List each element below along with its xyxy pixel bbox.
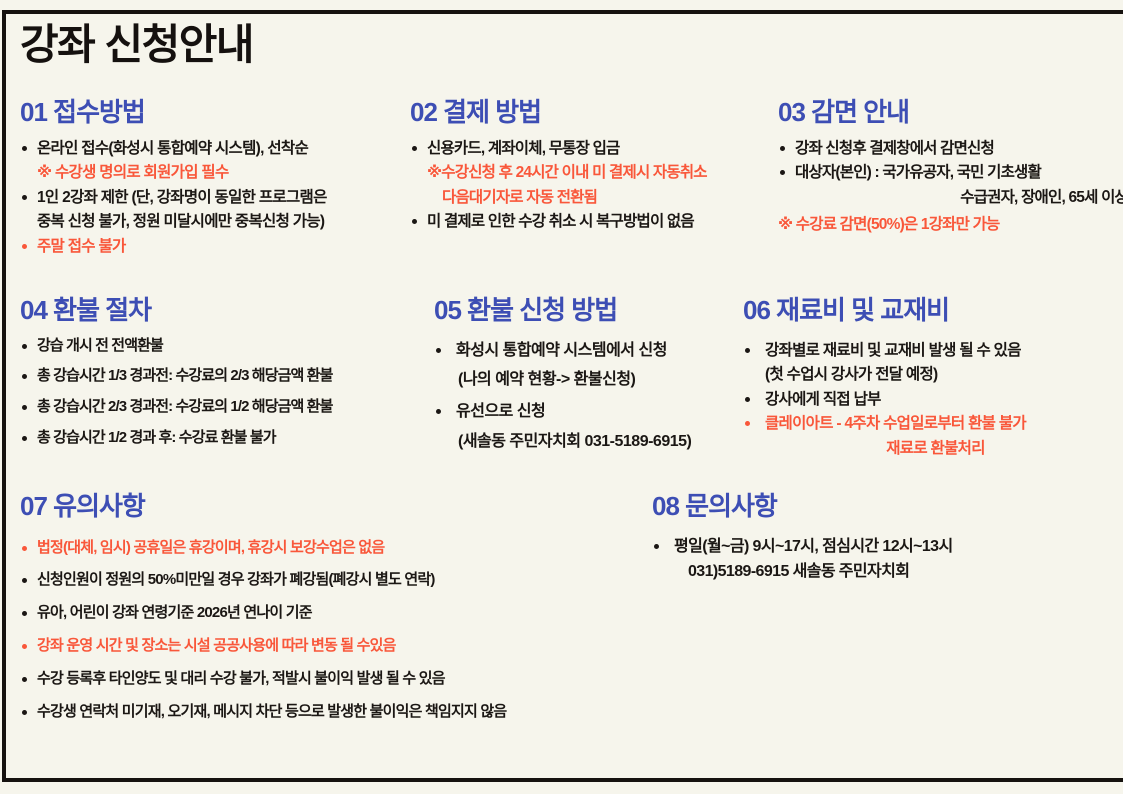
page-title: 강좌 신청안내 (20, 22, 253, 68)
section-04-list: 강습 개시 전 전액환불 총 강습시간 1/3 경과전: 수강료의 2/3 해당… (20, 335, 440, 450)
section-02-title: 결제 방법 (443, 97, 541, 127)
section-04-number: 04 (20, 295, 47, 325)
section-07-number: 07 (20, 491, 47, 521)
list-item: 재료로 환불처리 (743, 437, 1123, 461)
list-item: 031)5189-6915 새솔동 주민자치회 (652, 560, 1122, 584)
section-03-heading: 03 감면 안내 (778, 98, 1123, 127)
section-01-title: 접수방법 (53, 97, 145, 127)
list-item: 총 강습시간 2/3 경과전: 수강료의 1/2 해당금액 환불 (20, 396, 440, 419)
list-item: 화성시 통합예약 시스템에서 신청 (434, 339, 739, 363)
section-07-heading: 07 유의사항 (20, 492, 640, 521)
list-item: 강사에게 직접 납부 (743, 388, 1123, 412)
section-03-list: 강좌 신청후 결제창에서 감면신청 대상자(본인) : 국가유공자, 국민 기초… (778, 137, 1123, 237)
section-05-title: 환불 신청 방법 (467, 295, 617, 325)
section-06-heading: 06 재료비 및 교재비 (743, 296, 1123, 325)
list-item: 평일(월~금) 9시~17시, 점심시간 12시~13시 (652, 535, 1122, 559)
list-item: 강습 개시 전 전액환불 (20, 335, 440, 358)
list-item: 유선으로 신청 (434, 400, 739, 424)
list-item: 강좌별로 재료비 및 교재비 발생 될 수 있음 (743, 339, 1123, 363)
section-02-list: 신용카드, 계좌이체, 무통장 입금 ※수강신청 후 24시간 이내 미 결제시… (410, 137, 780, 234)
section-07-notices: 07 유의사항 법정(대체, 임시) 공휴일은 휴강이며, 휴강시 보강수업은 … (20, 492, 640, 733)
section-08-list: 평일(월~금) 9시~17시, 점심시간 12시~13시 031)5189-69… (652, 535, 1122, 585)
section-06-title: 재료비 및 교재비 (776, 295, 949, 325)
section-04-title: 환불 절차 (53, 295, 151, 325)
list-item: ※ 수강생 명의로 회원가입 필수 (20, 161, 410, 185)
section-05-number: 05 (434, 295, 461, 325)
list-item: ※수강신청 후 24시간 이내 미 결제시 자동취소 (410, 161, 780, 185)
section-05-heading: 05 환불 신청 방법 (434, 296, 739, 325)
section-04-refund-procedure: 04 환불 절차 강습 개시 전 전액환불 총 강습시간 1/3 경과전: 수강… (20, 296, 440, 453)
list-item: ※ 수강료 감면(50%)은 1강좌만 가능 (778, 213, 1123, 237)
list-item: 다음대기자로 자동 전환됨 (410, 186, 780, 210)
list-item: 신청인원이 정원의 50%미만일 경우 강좌가 폐강됨(폐강시 별도 연락) (20, 569, 640, 592)
list-item: (나의 예약 현황-> 환불신청) (434, 368, 739, 392)
list-item: 1인 2강좌 제한 (단, 강좌명이 동일한 프로그램은 (20, 186, 410, 210)
section-08-heading: 08 문의사항 (652, 492, 1122, 521)
list-item: 온라인 접수(화성시 통합예약 시스템), 선착순 (20, 137, 410, 161)
list-item: 총 강습시간 1/3 경과전: 수강료의 2/3 해당금액 환불 (20, 365, 440, 388)
section-02-payment-method: 02 결제 방법 신용카드, 계좌이체, 무통장 입금 ※수강신청 후 24시간… (410, 98, 780, 237)
section-02-heading: 02 결제 방법 (410, 98, 780, 127)
list-item: 대상자(본인) : 국가유공자, 국민 기초생활 (778, 161, 1123, 185)
section-03-number: 03 (778, 97, 805, 127)
list-item: 수급권자, 장애인, 65세 이상 (778, 186, 1123, 210)
section-03-title: 감면 안내 (811, 97, 909, 127)
section-08-inquiries: 08 문의사항 평일(월~금) 9시~17시, 점심시간 12시~13시 031… (652, 492, 1122, 587)
list-item: 유아, 어린이 강좌 연령기준 2026년 연나이 기준 (20, 602, 640, 625)
section-01-number: 01 (20, 97, 47, 127)
list-item: (새솔동 주민자치회 031-5189-6915) (434, 430, 739, 454)
list-item: 총 강습시간 1/2 경과 후: 수강료 환불 불가 (20, 427, 440, 450)
list-item: 강좌 신청후 결제창에서 감면신청 (778, 137, 1123, 161)
section-03-discount-info: 03 감면 안내 강좌 신청후 결제창에서 감면신청 대상자(본인) : 국가유… (778, 98, 1123, 240)
section-01-list: 온라인 접수(화성시 통합예약 시스템), 선착순 ※ 수강생 명의로 회원가입… (20, 137, 410, 259)
section-05-refund-request-method: 05 환불 신청 방법 화성시 통합예약 시스템에서 신청 (나의 예약 현황-… (434, 296, 739, 459)
list-item: 중복 신청 불가, 정원 미달시에만 중복신청 가능) (20, 210, 410, 234)
section-01-heading: 01 접수방법 (20, 98, 410, 127)
list-item: 신용카드, 계좌이체, 무통장 입금 (410, 137, 780, 161)
section-07-title: 유의사항 (53, 491, 145, 521)
section-05-list: 화성시 통합예약 시스템에서 신청 (나의 예약 현황-> 환불신청) 유선으로… (434, 339, 739, 454)
list-item: 수강생 연락처 미기재, 오기재, 메시지 차단 등으로 발생한 불이익은 책임… (20, 701, 640, 724)
section-07-list: 법정(대체, 임시) 공휴일은 휴강이며, 휴강시 보강수업은 없음 신청인원이… (20, 537, 640, 724)
list-item: 미 결제로 인한 수강 취소 시 복구방법이 없음 (410, 210, 780, 234)
section-04-heading: 04 환불 절차 (20, 296, 440, 325)
list-item: (첫 수업시 강사가 전달 예정) (743, 363, 1123, 387)
poster-frame: 강좌 신청안내 01 접수방법 온라인 접수(화성시 통합예약 시스템), 선착… (2, 10, 1123, 782)
section-08-number: 08 (652, 491, 679, 521)
section-08-title: 문의사항 (685, 491, 777, 521)
list-item: 강좌 운영 시간 및 장소는 시설 공공사용에 따라 변동 될 수있음 (20, 635, 640, 658)
section-01-registration-method: 01 접수방법 온라인 접수(화성시 통합예약 시스템), 선착순 ※ 수강생 … (20, 98, 410, 261)
list-item: 법정(대체, 임시) 공휴일은 휴강이며, 휴강시 보강수업은 없음 (20, 537, 640, 560)
section-06-number: 06 (743, 295, 770, 325)
section-06-list: 강좌별로 재료비 및 교재비 발생 될 수 있음 (첫 수업시 강사가 전달 예… (743, 339, 1123, 461)
section-06-material-and-textbook-fee: 06 재료비 및 교재비 강좌별로 재료비 및 교재비 발생 될 수 있음 (첫… (743, 296, 1123, 463)
section-02-number: 02 (410, 97, 437, 127)
list-item: 주말 접수 불가 (20, 235, 410, 259)
list-item: 수강 등록후 타인양도 및 대리 수강 불가, 적발시 불이익 발생 될 수 있… (20, 668, 640, 691)
list-item: 클레이아트 - 4주차 수업일로부터 환불 불가 (743, 412, 1123, 436)
